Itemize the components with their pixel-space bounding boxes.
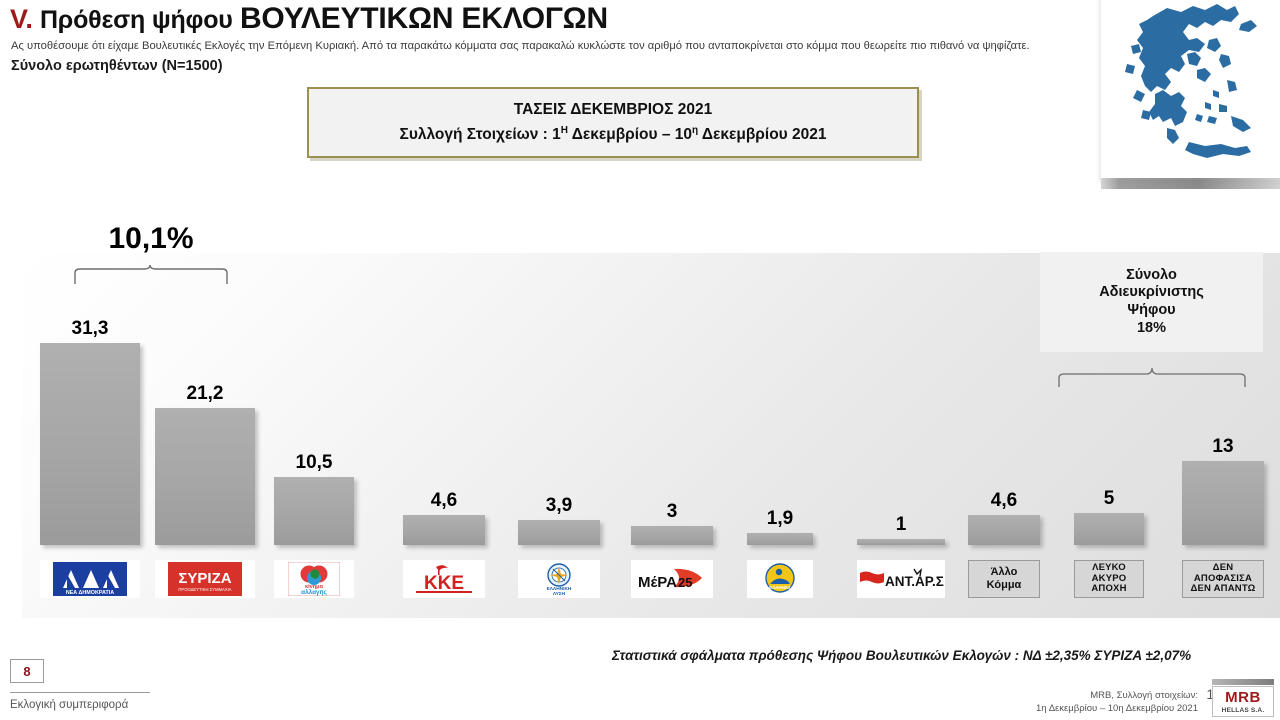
bar-value-allo: 4,6 xyxy=(991,491,1017,510)
bar-rect-ellines xyxy=(747,533,813,545)
undecided-title-line3: Ψήφου xyxy=(1127,302,1175,320)
bar-ellines: 1,9 xyxy=(747,509,813,545)
bar-rect-allo xyxy=(968,515,1040,545)
bar-mera25: 3 xyxy=(631,502,713,545)
footer-divider xyxy=(10,692,150,693)
mrb-collection-line2: 1η Δεκεμβρίου – 10η Δεκεμβρίου 2021 xyxy=(1036,703,1198,716)
mrb-collection-note: MRB, Συλλογή στοιχείων: 1η Δεκεμβρίου – … xyxy=(1036,690,1198,716)
undecided-title-line1: Σύνολο xyxy=(1126,267,1177,285)
party-logo-lefko: ΛΕΥΚΟΑΚΥΡΟΑΠΟΧΗ xyxy=(1074,560,1144,598)
bar-rect-kke xyxy=(403,515,485,545)
svg-text:ΛΥΣΗ: ΛΥΣΗ xyxy=(553,591,566,596)
party-logo-mera25: ΜέΡΑ 25 xyxy=(631,560,713,598)
undecided-total-value: 18% xyxy=(1137,320,1166,338)
bar-value-nd: 31,3 xyxy=(72,319,109,338)
period-range-b: Δεκεμβρίου – 10 xyxy=(568,126,692,143)
svg-text:ΝΕΑ ΔΗΜΟΚΡΑΤΙΑ: ΝΕΑ ΔΗΜΟΚΡΑΤΙΑ xyxy=(66,590,114,596)
bar-kke: 4,6 xyxy=(403,491,485,545)
mrb-logo-sub: HELLAS S.A. xyxy=(1222,707,1265,714)
svg-text:ΜέΡΑ: ΜέΡΑ xyxy=(638,574,677,591)
period-sup-1: Η xyxy=(561,125,568,136)
svg-text:ΚΚΕ: ΚΚΕ xyxy=(424,573,464,594)
bar-elliniki: 3,9 xyxy=(518,496,600,545)
period-range: Συλλογή Στοιχείων : 1Η Δεκεμβρίου – 10η … xyxy=(400,125,827,144)
bar-value-mera25: 3 xyxy=(667,502,678,521)
mrb-logo-topbar xyxy=(1212,679,1274,685)
bar-lefko: 5 xyxy=(1074,489,1144,545)
undecided-total-box: Σύνολο Αδιευκρίνιστης Ψήφου 18% xyxy=(1040,252,1263,352)
party-logo-kinal: κίνημα αλλαγής xyxy=(274,560,354,598)
mrb-collection-line1: MRB, Συλλογή στοιχείων: xyxy=(1036,690,1198,703)
undecided-bracket-icon xyxy=(1056,366,1248,388)
logo-text: ΔΕΝΑΠΟΦΑΣΙΣΑΔΕΝ ΑΠΑΝΤΩ xyxy=(1190,563,1255,596)
bar-value-lefko: 5 xyxy=(1104,489,1115,508)
bar-rect-syriza xyxy=(155,408,255,545)
bar-value-antarsya: 1 xyxy=(896,515,907,534)
bar-rect-kinal xyxy=(274,477,354,545)
logo-text: ΆλλοΚόμμα xyxy=(987,566,1022,591)
bar-antarsya: 1 xyxy=(857,515,945,545)
bar-value-kinal: 10,5 xyxy=(296,453,333,472)
logo-text: ΛΕΥΚΟΑΚΥΡΟΑΠΟΧΗ xyxy=(1091,563,1126,596)
svg-text:ΠΡΟΟΔΕΥΤΙΚΗ ΣΥΜΜΑΧΙΑ: ΠΡΟΟΔΕΥΤΙΚΗ ΣΥΜΜΑΧΙΑ xyxy=(178,587,231,592)
party-logo-antarsya: ΑΝΤ.ΑΡ.ΣΥ.Α. xyxy=(857,560,945,598)
svg-text:ΕΛΛΗΝΕΣ: ΕΛΛΗΝΕΣ xyxy=(769,585,791,590)
statistical-error-note: Στατιστικά σφάλματα πρόθεσης Ψήφου Βουλε… xyxy=(612,648,1191,663)
period-box: ΤΑΣΕΙΣ ΔΕΚΕΜΒΡΙΟΣ 2021 Συλλογή Στοιχείων… xyxy=(307,87,919,158)
bar-value-ellines: 1,9 xyxy=(767,509,793,528)
bar-value-syriza: 21,2 xyxy=(187,384,224,403)
bar-syriza: 21,2 xyxy=(155,384,255,545)
party-logo-nd: ΝΕΑ ΔΗΜΟΚΡΑΤΙΑ xyxy=(40,560,140,598)
undecided-title-line2: Αδιευκρίνιστης xyxy=(1099,284,1204,302)
mrb-logo: MRB HELLAS S.A. xyxy=(1212,686,1274,717)
mrb-logo-main: MRB xyxy=(1225,690,1261,705)
bar-allo: 4,6 xyxy=(968,491,1040,545)
nd-syriza-gap-label: 10,1% xyxy=(72,222,230,256)
period-range-a: Συλλογή Στοιχείων : 1 xyxy=(400,126,561,143)
party-logo-allo: ΆλλοΚόμμα xyxy=(968,560,1040,598)
page-title-roman: V. xyxy=(10,4,33,34)
bar-rect-den xyxy=(1182,461,1264,545)
party-logo-kke: ΚΚΕ xyxy=(403,560,485,598)
section-caption: Εκλογική συμπεριφορά xyxy=(10,699,128,711)
bar-value-den: 13 xyxy=(1212,437,1233,456)
bar-kinal: 10,5 xyxy=(274,453,354,545)
svg-text:ΑΝΤ.ΑΡ.ΣΥ.Α.: ΑΝΤ.ΑΡ.ΣΥ.Α. xyxy=(885,574,944,589)
map-card-shadow xyxy=(1101,178,1280,189)
page-title-lead: Πρόθεση ψήφου xyxy=(40,6,233,34)
party-logo-elliniki: ΕΛΛΗΝΙΚΗ ΛΥΣΗ xyxy=(518,560,600,598)
bar-rect-antarsya xyxy=(857,539,945,545)
bar-nd: 31,3 xyxy=(40,319,140,545)
section-number-badge: 8 xyxy=(10,659,44,683)
bar-rect-elliniki xyxy=(518,520,600,545)
svg-text:ΣΥΡΙΖΑ: ΣΥΡΙΖΑ xyxy=(178,570,231,587)
period-title: ΤΑΣΕΙΣ ΔΕΚΕΜΒΡΙΟΣ 2021 xyxy=(514,101,712,119)
bar-value-kke: 4,6 xyxy=(431,491,457,510)
nd-syriza-bracket-icon xyxy=(72,265,230,285)
survey-question: Ας υποθέσουμε ότι είχαμε Βουλευτικές Εκλ… xyxy=(11,40,1030,52)
period-range-c: Δεκεμβρίου 2021 xyxy=(698,126,826,143)
sample-size-label: Σύνολο ερωτηθέντων (Ν=1500) xyxy=(11,58,223,74)
greece-map-card xyxy=(1101,0,1280,180)
party-logo-ellines: ΕΛΛΗΝΕΣ xyxy=(747,560,813,598)
svg-text:αλλαγής: αλλαγής xyxy=(301,588,327,596)
slide-root: V. Πρόθεση ψήφου ΒΟΥΛΕΥΤΙΚΩΝ ΕΚΛΟΓΩΝ Ας … xyxy=(0,0,1280,720)
bar-rect-mera25 xyxy=(631,526,713,545)
bar-den: 13 xyxy=(1182,437,1264,545)
party-logo-den: ΔΕΝΑΠΟΦΑΣΙΣΑΔΕΝ ΑΠΑΝΤΩ xyxy=(1182,560,1264,598)
svg-text:25: 25 xyxy=(678,575,692,590)
bar-rect-lefko xyxy=(1074,513,1144,545)
bar-rect-nd xyxy=(40,343,140,545)
bar-value-elliniki: 3,9 xyxy=(546,496,572,515)
page-title: V. Πρόθεση ψήφου ΒΟΥΛΕΥΤΙΚΩΝ ΕΚΛΟΓΩΝ xyxy=(10,2,608,36)
greece-map-icon xyxy=(1101,0,1280,180)
page-title-main: ΒΟΥΛΕΥΤΙΚΩΝ ΕΚΛΟΓΩΝ xyxy=(240,2,608,35)
party-logo-syriza: ΣΥΡΙΖΑ ΠΡΟΟΔΕΥΤΙΚΗ ΣΥΜΜΑΧΙΑ xyxy=(155,560,255,598)
